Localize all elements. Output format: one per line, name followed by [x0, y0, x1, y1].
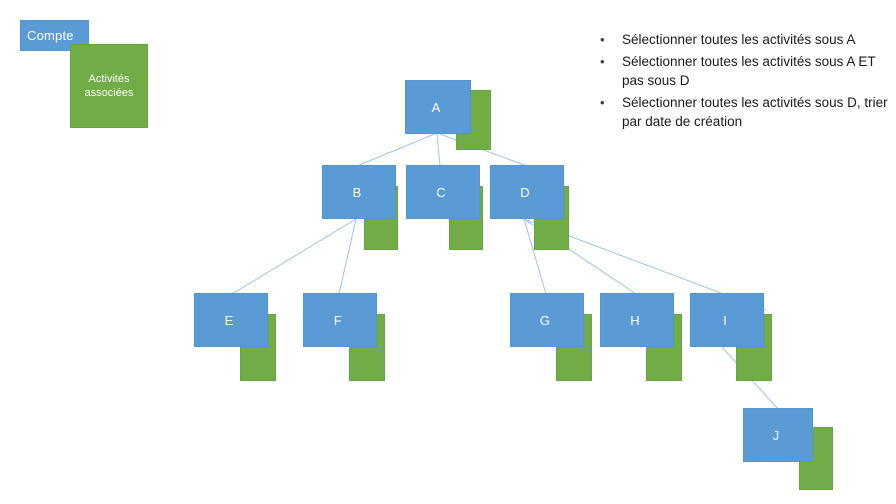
connector-a-to-b	[357, 133, 437, 166]
account-box-j[interactable]: J	[743, 408, 813, 462]
bullet-marker-icon: •	[596, 30, 622, 49]
bullet-item: •Sélectionner toutes les activités sous …	[596, 30, 891, 49]
connector-a-to-c	[437, 133, 440, 166]
slide-canvas: Compte Activités associées •Sélectionner…	[0, 0, 896, 504]
bullet-marker-icon: •	[596, 93, 622, 112]
node-label-f: F	[334, 314, 342, 327]
node-label-a: A	[432, 101, 441, 114]
node-label-b: B	[353, 186, 362, 199]
node-label-d: D	[520, 186, 530, 199]
connector-b-to-e	[232, 219, 356, 294]
account-box-b[interactable]: B	[322, 165, 396, 219]
node-label-i: I	[723, 314, 727, 327]
account-box-f[interactable]: F	[303, 293, 377, 347]
legend-account-label: Compte	[21, 29, 74, 42]
connector-b-to-f	[339, 219, 356, 294]
account-box-h[interactable]: H	[600, 293, 674, 347]
account-box-e[interactable]: E	[194, 293, 268, 347]
node-label-h: H	[630, 314, 640, 327]
bullet-item: •Sélectionner toutes les activités sous …	[596, 93, 891, 131]
account-box-d[interactable]: D	[490, 165, 564, 219]
account-box-a[interactable]: A	[405, 80, 471, 134]
bullet-text: Sélectionner toutes les activités sous D…	[622, 93, 891, 131]
requirements-bullet-list: •Sélectionner toutes les activités sous …	[596, 30, 891, 134]
account-box-i[interactable]: I	[690, 293, 764, 347]
legend: Compte Activités associées	[0, 0, 190, 140]
bullet-text: Sélectionner toutes les activités sous A	[622, 30, 891, 49]
bullet-text: Sélectionner toutes les activités sous A…	[622, 52, 891, 90]
account-box-c[interactable]: C	[406, 165, 480, 219]
node-label-e: E	[225, 314, 234, 327]
node-label-c: C	[436, 186, 446, 199]
node-label-j: J	[773, 429, 780, 442]
node-label-g: G	[540, 314, 550, 327]
account-box-g[interactable]: G	[510, 293, 584, 347]
bullet-item: •Sélectionner toutes les activités sous …	[596, 52, 891, 90]
legend-activities-label: Activités associées	[71, 72, 147, 101]
legend-activities-box: Activités associées	[70, 44, 148, 128]
bullet-marker-icon: •	[596, 52, 622, 71]
